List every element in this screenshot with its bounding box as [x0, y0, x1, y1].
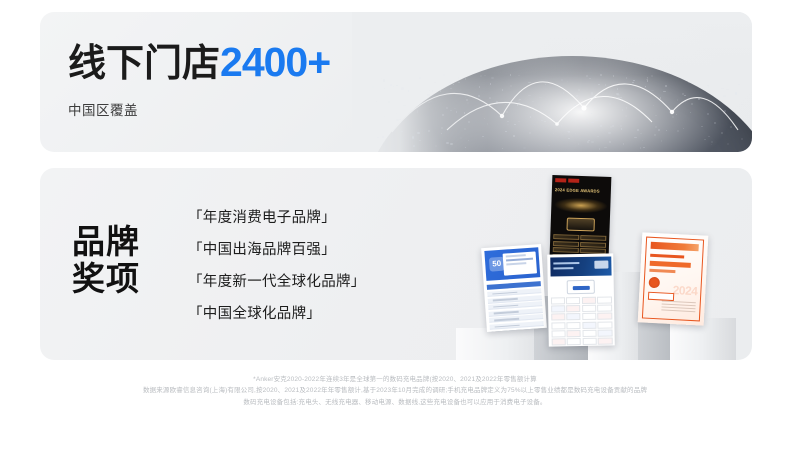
city-light [549, 115, 550, 116]
network-arcs-icon [352, 12, 752, 152]
city-light [465, 97, 466, 98]
city-light [654, 134, 656, 136]
city-light [553, 133, 554, 134]
city-light [467, 102, 469, 104]
city-light [523, 147, 526, 149]
city-light [383, 79, 385, 81]
city-light [616, 93, 618, 94]
footnote-line-1: *Anker安克2020-2022年连续3年是全球第一的数码充电品牌(按2020… [0, 374, 790, 385]
brand-logo-grid [550, 296, 612, 346]
city-light [612, 125, 614, 127]
city-light [605, 84, 606, 86]
city-light [518, 121, 520, 122]
city-light [510, 74, 511, 76]
city-light [489, 97, 491, 99]
city-light [634, 137, 636, 138]
city-light [625, 115, 627, 116]
city-light [677, 99, 678, 101]
seal-icon [649, 276, 661, 288]
edge-awards-poster: 2024 EDGE AWARDS [550, 175, 612, 257]
city-light [658, 129, 660, 131]
city-light [599, 148, 600, 150]
city-light [591, 92, 593, 94]
city-light [518, 75, 519, 76]
city-light [435, 145, 437, 147]
city-light [663, 91, 666, 92]
city-light [377, 137, 379, 138]
certificate-year: 2024 [672, 283, 697, 298]
orange-award-certificate: 2024 [638, 232, 709, 325]
city-light [434, 82, 436, 83]
city-light [464, 112, 465, 114]
city-light [708, 136, 710, 138]
city-light [376, 101, 377, 102]
city-light [698, 98, 701, 100]
city-light [417, 132, 419, 134]
city-light [589, 104, 591, 105]
city-light [651, 90, 653, 91]
city-light [408, 90, 409, 92]
city-light [534, 124, 535, 125]
city-light [665, 85, 667, 87]
city-light [661, 140, 662, 142]
city-light [539, 97, 542, 98]
city-light [595, 120, 598, 121]
list-item: 「中国出海品牌百强」 [188, 238, 366, 259]
awards-heading-line2: 奖项 [72, 261, 140, 298]
city-light [442, 114, 444, 115]
city-light [513, 135, 515, 136]
city-light [591, 122, 593, 123]
store-count: 2400+ [220, 39, 330, 85]
city-light [688, 82, 690, 83]
city-light [566, 105, 568, 106]
city-light [388, 101, 390, 103]
city-light [632, 82, 633, 83]
certificate-header [550, 256, 611, 276]
city-light [647, 80, 648, 82]
city-light [441, 127, 443, 129]
footnote-line-3: 数码充电设备包括:充电头、无线充电器、移动电源、数据线,这些充电设备也可以应用于… [0, 397, 790, 408]
city-light [723, 112, 724, 114]
certificate-display-stage: 50 2024 EDGE AWARDS [438, 168, 752, 360]
city-light [617, 97, 620, 99]
city-light [621, 99, 623, 100]
city-light [529, 132, 531, 134]
city-light [578, 89, 580, 91]
page-title: 线下门店2400+ [68, 42, 330, 83]
city-light [430, 101, 432, 102]
stores-subtitle: 中国区覆盖 [68, 99, 330, 119]
city-light [684, 95, 686, 96]
city-light [591, 141, 593, 143]
awards-heading: 品牌 奖项 [72, 224, 140, 298]
city-light [484, 75, 486, 76]
offline-stores-panel: 线下门店2400+ 中国区覆盖 [40, 12, 752, 152]
city-light [446, 142, 449, 144]
poster-tags [555, 178, 608, 184]
gold-swirl-graphic [554, 195, 608, 216]
city-light [479, 86, 480, 88]
city-light [478, 95, 479, 97]
city-light [647, 78, 648, 79]
city-light [666, 130, 668, 131]
city-light [598, 113, 599, 114]
marketing-page: 线下门店2400+ 中国区覆盖 品牌 奖项 「年度消费电子品牌」 「中国出海品牌… [0, 0, 790, 470]
city-light [651, 75, 653, 77]
certificate-card [503, 251, 537, 275]
brand-logo-icon [567, 279, 595, 293]
city-light [403, 105, 405, 107]
stores-text-block: 线下门店2400+ 中国区覆盖 [68, 42, 330, 119]
city-light [727, 143, 729, 145]
city-light [419, 77, 420, 78]
city-light [735, 127, 737, 128]
blue-ranking-certificate: 50 [481, 244, 547, 332]
headline-label: 线下门店 [68, 43, 220, 85]
city-light [412, 136, 414, 138]
city-light [600, 74, 601, 76]
city-light [574, 104, 576, 106]
city-light [465, 78, 467, 80]
city-light [620, 125, 622, 127]
city-light [417, 110, 418, 112]
city-light [530, 116, 531, 118]
city-light [701, 126, 703, 127]
city-light [502, 148, 503, 149]
certificate-band [651, 242, 699, 252]
ranking-rows [487, 281, 545, 332]
city-light [567, 131, 570, 132]
city-light [419, 140, 421, 141]
footnote-line-2: 数据来源欧睿信息咨询(上海)有限公司,按2020、2021及2022年年零售额计… [0, 385, 790, 396]
footnote-disclaimer: *Anker安克2020-2022年连续3年是全球第一的数码充电品牌(按2020… [0, 374, 790, 408]
city-light [685, 100, 686, 102]
city-light [427, 94, 429, 96]
city-light [561, 79, 563, 81]
city-light [633, 80, 635, 81]
city-light [708, 86, 709, 88]
brand-list-certificate [547, 253, 615, 346]
certificate-text-lines [661, 301, 696, 315]
list-item: 「中国全球化品牌」 [188, 302, 366, 323]
city-light [401, 87, 403, 89]
city-light [545, 84, 546, 86]
list-item: 「年度新一代全球化品牌」 [188, 270, 366, 291]
city-light [576, 95, 577, 97]
city-light [450, 110, 453, 111]
city-light [411, 112, 412, 113]
city-light [610, 126, 612, 128]
brand-awards-panel: 品牌 奖项 「年度消费电子品牌」 「中国出海品牌百强」 「年度新一代全球化品牌」… [40, 168, 752, 360]
city-light [382, 136, 384, 138]
city-light [660, 97, 662, 98]
city-light [578, 120, 580, 121]
list-item: 「年度消费电子品牌」 [188, 206, 366, 227]
city-light [608, 132, 610, 133]
city-light [383, 143, 385, 145]
city-light [428, 130, 430, 132]
city-light [724, 110, 726, 112]
awards-heading-line1: 品牌 [72, 224, 140, 261]
city-light [458, 77, 460, 79]
city-light [704, 139, 705, 140]
city-light [505, 104, 506, 105]
certificate-border: 2024 [642, 237, 704, 322]
city-light [484, 118, 485, 119]
city-light [626, 107, 627, 108]
city-light [741, 138, 744, 140]
poster-title: 2024 EDGE AWARDS [555, 187, 608, 195]
city-light [395, 113, 397, 114]
globe-graphic [352, 12, 752, 152]
city-light [655, 115, 657, 116]
awards-list: 「年度消费电子品牌」 「中国出海品牌百强」 「年度新一代全球化品牌」 「中国全球… [188, 206, 366, 323]
city-light [510, 85, 512, 86]
city-light [640, 133, 642, 134]
city-light [586, 75, 588, 77]
city-light [561, 125, 562, 126]
certificate-header: 50 [484, 247, 540, 281]
city-light [460, 137, 462, 138]
city-light [440, 90, 441, 92]
medal-icon [566, 218, 594, 232]
city-light [464, 128, 467, 130]
city-light [721, 132, 723, 134]
city-light [401, 131, 402, 132]
city-light [518, 102, 520, 104]
city-light [506, 111, 508, 113]
city-light [677, 130, 678, 132]
city-light [454, 108, 456, 109]
city-light [735, 92, 737, 94]
city-light [586, 119, 588, 120]
